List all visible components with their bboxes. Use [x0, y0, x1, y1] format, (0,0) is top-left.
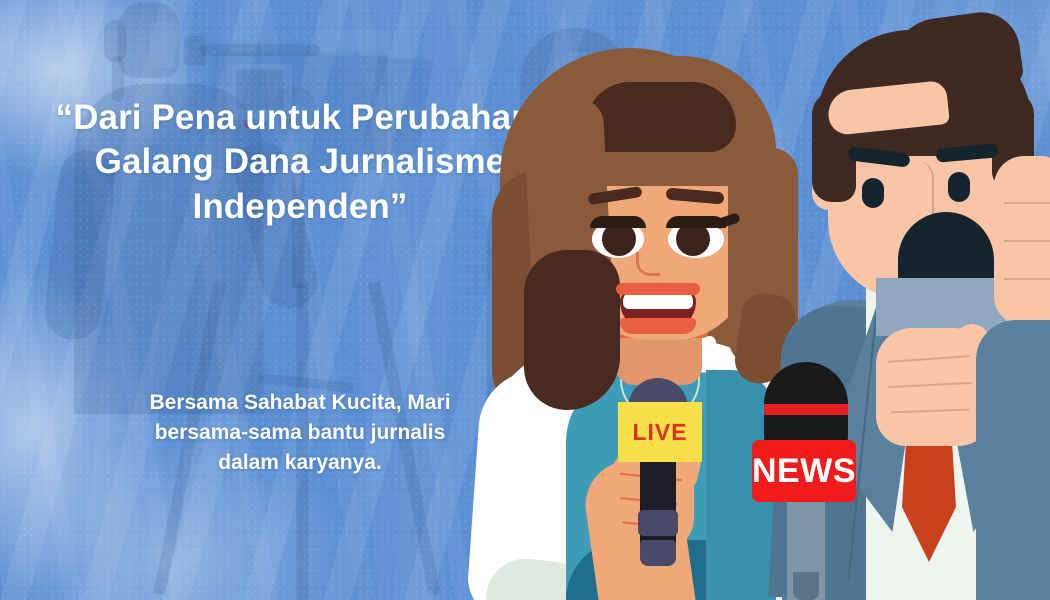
female-microphone-grip-2: [640, 540, 676, 566]
female-hair-side-left-shadow: [524, 250, 620, 410]
female-eye-left-lash: [590, 216, 646, 228]
news-microphone-stripe: [764, 404, 848, 415]
male-fist-line-3: [1004, 278, 1050, 280]
news-microphone-tip: [793, 572, 819, 600]
male-fist-knuckle-1: [1004, 164, 1050, 204]
news-badge-label: NEWS: [752, 452, 856, 491]
male-eye-left: [862, 178, 884, 208]
poster-canvas: “Dari Pena untuk Perubahan: Galang Dana …: [0, 0, 1050, 600]
live-badge-label: LIVE: [632, 419, 687, 446]
female-microphone-grip-1: [638, 510, 678, 536]
female-lip-upper: [616, 283, 700, 295]
female-hair-fringe: [586, 82, 736, 152]
live-badge: LIVE: [618, 402, 702, 462]
news-badge: NEWS: [752, 440, 856, 502]
male-fist-line-2: [1004, 240, 1050, 242]
male-eye-right: [948, 172, 970, 202]
male-fist-line-1: [1004, 202, 1050, 204]
female-lip-lower: [620, 318, 696, 334]
male-forearm: [976, 320, 1050, 600]
